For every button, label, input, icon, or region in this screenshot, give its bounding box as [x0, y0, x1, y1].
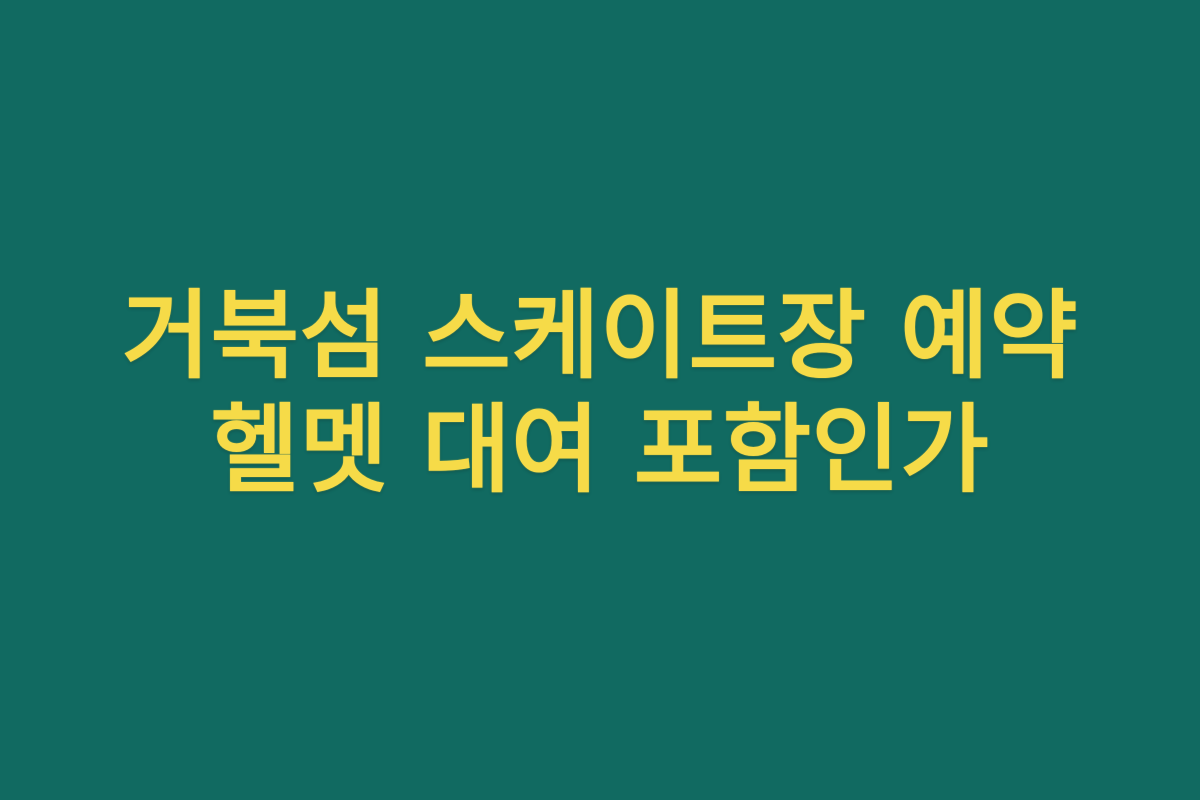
headline-line-1: 거북섬 스케이트장 예약 — [122, 288, 1078, 384]
headline-block: 거북섬 스케이트장 예약 헬멧 대여 포함인가 — [0, 288, 1200, 498]
banner-background: 거북섬 스케이트장 예약 헬멧 대여 포함인가 — [0, 0, 1200, 800]
headline-line-2: 헬멧 대여 포함인가 — [211, 402, 989, 498]
